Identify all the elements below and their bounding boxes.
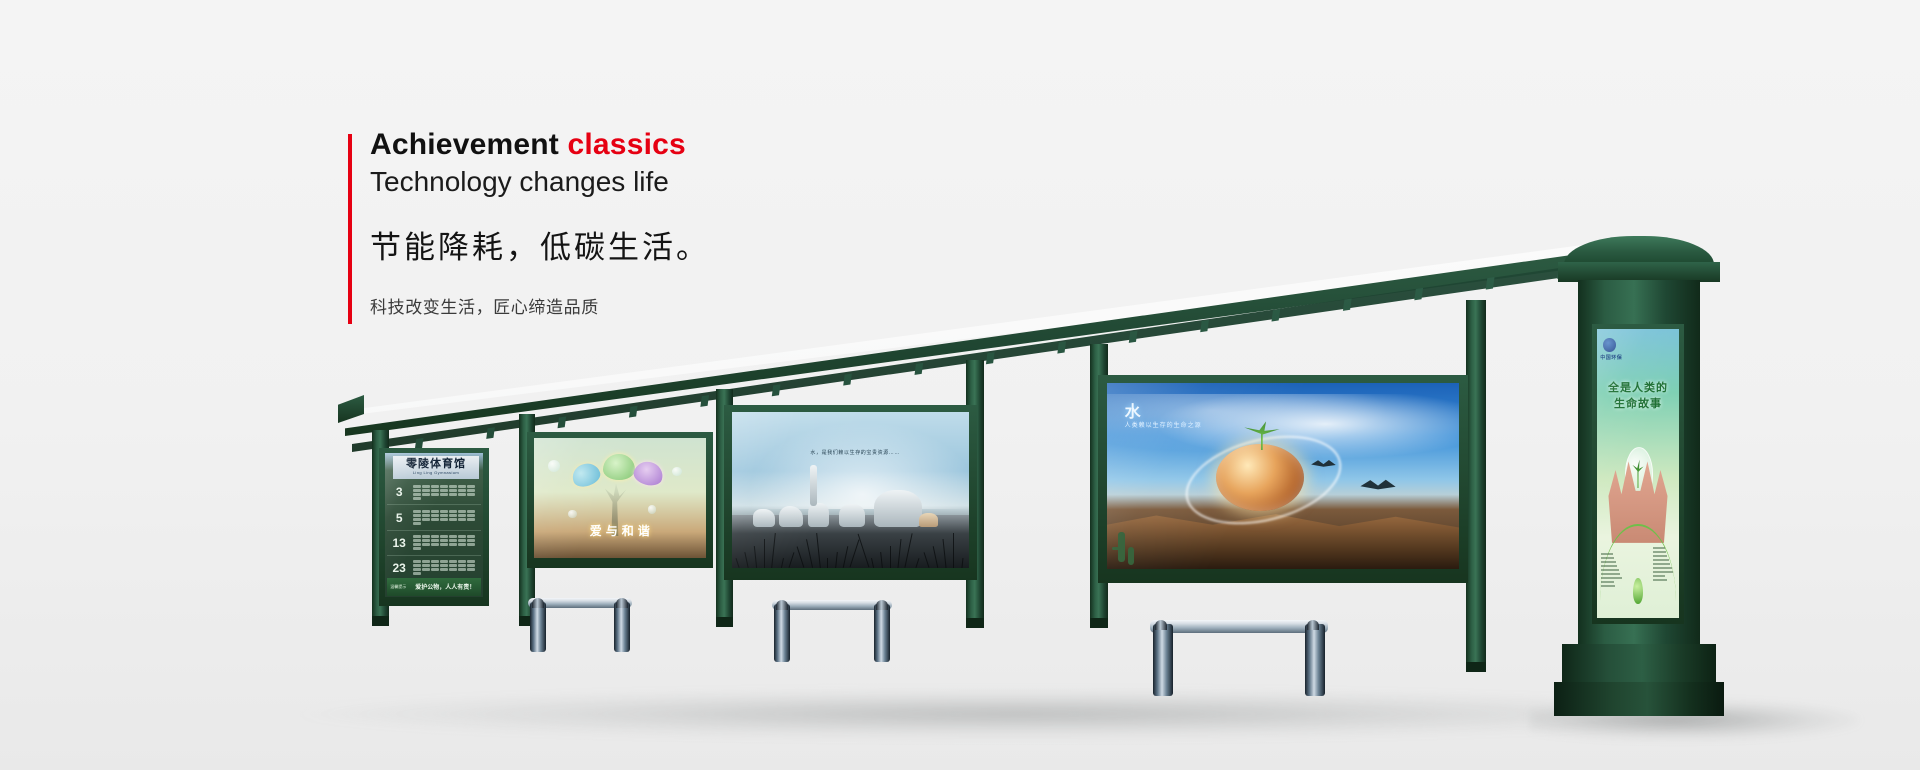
- poster-screen: 爱与和谐: [534, 438, 706, 558]
- poster-artwork-water-life: 水 人类赖以生存的生命之源: [1107, 383, 1459, 569]
- station-name-cn: 零陵体育馆: [393, 456, 479, 470]
- poster-subtitle: 人类赖以生存的生命之源: [1125, 420, 1202, 429]
- leaf-drop-icon: [1633, 578, 1643, 604]
- route-row: 3: [387, 480, 481, 505]
- ground-crack: [796, 546, 804, 567]
- bench-2: [772, 600, 892, 662]
- route-rows: 351323: [387, 480, 481, 576]
- animal-lion: [753, 509, 774, 528]
- shelter-ground-shadow: [300, 690, 1730, 738]
- bench-leg: [1153, 624, 1173, 696]
- pillar-poster-lightbox[interactable]: 中国环保 全是人类的 生命故事: [1592, 324, 1684, 624]
- bench-leg: [774, 604, 790, 662]
- ground-crack: [880, 552, 883, 568]
- ground-crack: [744, 552, 748, 568]
- ground-crack: [806, 540, 813, 568]
- route-stop-list: [411, 480, 481, 504]
- route-stop-list: [411, 556, 481, 580]
- poster-caption: 水，是我们赖以生存的宝贵资源……: [784, 449, 926, 456]
- animal-lioness: [779, 506, 803, 528]
- poster-lightbox-love-harmony[interactable]: 爱与和谐: [527, 432, 713, 568]
- brand-logo-icon: [1603, 338, 1616, 352]
- route-stop-list: [411, 531, 481, 555]
- animal-camel: [839, 504, 865, 527]
- poster-artwork-drought: 水，是我们赖以生存的宝贵资源……: [732, 412, 969, 568]
- route-row: 13: [387, 531, 481, 556]
- canopy-left-cap: [338, 395, 364, 423]
- schedule-panel: 零陵体育馆 Ling Ling Gymnasium 351323 温馨提示 爱护…: [385, 453, 483, 597]
- poster-headline: 全是人类的 生命故事: [1602, 381, 1674, 413]
- sky-glow: [732, 412, 969, 509]
- poster-title: 爱与和谐: [558, 522, 685, 539]
- ground-crack: [923, 552, 929, 567]
- route-number: 3: [387, 480, 411, 504]
- route-stop-list: [411, 505, 481, 529]
- cactus-icon: [1128, 547, 1134, 566]
- cactus-icon: [1112, 547, 1124, 551]
- route-number: 13: [387, 531, 411, 555]
- poster-body-text-left: [1601, 553, 1622, 589]
- ground-crack: [764, 539, 765, 568]
- ground-crack: [849, 540, 859, 568]
- heart-leaf: [603, 454, 636, 480]
- route-schedule-lightbox[interactable]: 零陵体育馆 Ling Ling Gymnasium 351323 温馨提示 爱护…: [379, 448, 489, 606]
- ground-crack: [781, 558, 784, 568]
- ground-crack: [735, 559, 739, 568]
- route-number: 5: [387, 505, 411, 529]
- poster-lightbox-drought-animals[interactable]: 水，是我们赖以生存的宝贵资源……: [724, 405, 977, 580]
- heart-leaf: [569, 460, 602, 490]
- bench-3: [1150, 620, 1328, 698]
- banner-stage: Achievement classics Technology changes …: [0, 0, 1920, 770]
- ground-crack: [754, 546, 757, 568]
- poster-body-text-right: [1653, 547, 1674, 583]
- animal-elephant: [874, 490, 921, 527]
- animal-giraffe-body: [808, 503, 829, 528]
- ground-crack: [933, 546, 939, 568]
- station-name-en: Ling Ling Gymnasium: [393, 470, 479, 475]
- bench-leg: [874, 604, 890, 662]
- poster-artwork-tree-of-hearts: 爱与和谐: [534, 438, 706, 558]
- ground-crack: [816, 533, 821, 568]
- information-pillar: 中国环保 全是人类的 生命故事: [1578, 236, 1700, 716]
- animal-calf: [919, 513, 938, 527]
- ground-crack: [942, 539, 946, 568]
- bench-leg: [614, 602, 630, 652]
- ground-crack: [904, 533, 912, 567]
- bench-leg: [530, 602, 546, 652]
- poster-title: 水: [1125, 398, 1141, 422]
- brand-logo-text: 中国环保: [1600, 354, 1622, 361]
- bus-shelter-render: 零陵体育馆 Ling Ling Gymnasium 351323 温馨提示 爱护…: [0, 0, 1920, 770]
- ground-crack: [827, 558, 828, 568]
- ground-crack: [842, 546, 848, 568]
- station-name-plate: 零陵体育馆 Ling Ling Gymnasium: [393, 456, 479, 479]
- earth-globe: [1216, 444, 1304, 511]
- ground-crack: [897, 539, 901, 568]
- bench-leg: [1305, 624, 1325, 696]
- ground-crack: [871, 558, 874, 568]
- footer-text: 爱护公物，人人有责！: [410, 582, 482, 591]
- animal-giraffe-neck: [810, 465, 817, 506]
- poster-lightbox-water-life[interactable]: 水 人类赖以生存的生命之源: [1098, 375, 1468, 583]
- route-number: 23: [387, 556, 411, 580]
- schedule-footer: 温馨提示 爱护公物，人人有责！: [387, 578, 481, 595]
- pillar-cornice: [1558, 262, 1720, 282]
- ground-crack: [961, 558, 963, 568]
- bird-icon: [1360, 476, 1395, 495]
- ground-crack: [771, 533, 776, 568]
- poster-artwork-green-life: 中国环保 全是人类的 生命故事: [1597, 329, 1679, 618]
- poster-screen: 水，是我们赖以生存的宝贵资源……: [732, 412, 969, 568]
- ground-crack: [788, 552, 794, 567]
- poster-screen: 水 人类赖以生存的生命之源: [1107, 383, 1459, 569]
- support-post-6: [1466, 300, 1486, 672]
- route-row: 5: [387, 505, 481, 530]
- pillar-plinth: [1554, 682, 1724, 716]
- schedule-screen: 零陵体育馆 Ling Ling Gymnasium 351323 温馨提示 爱护…: [385, 453, 483, 597]
- ground-crack: [890, 546, 891, 568]
- ground-crack: [835, 552, 838, 568]
- ground-crack: [915, 559, 919, 568]
- ground-crack: [953, 533, 954, 568]
- bench-seat: [1150, 620, 1328, 633]
- ground-crack: [857, 534, 869, 568]
- heart-leaf: [631, 459, 665, 489]
- poster-screen: 中国环保 全是人类的 生命故事: [1597, 329, 1679, 618]
- footer-label: 温馨提示: [387, 584, 410, 590]
- bench-1: [528, 598, 632, 652]
- route-row: 23: [387, 556, 481, 581]
